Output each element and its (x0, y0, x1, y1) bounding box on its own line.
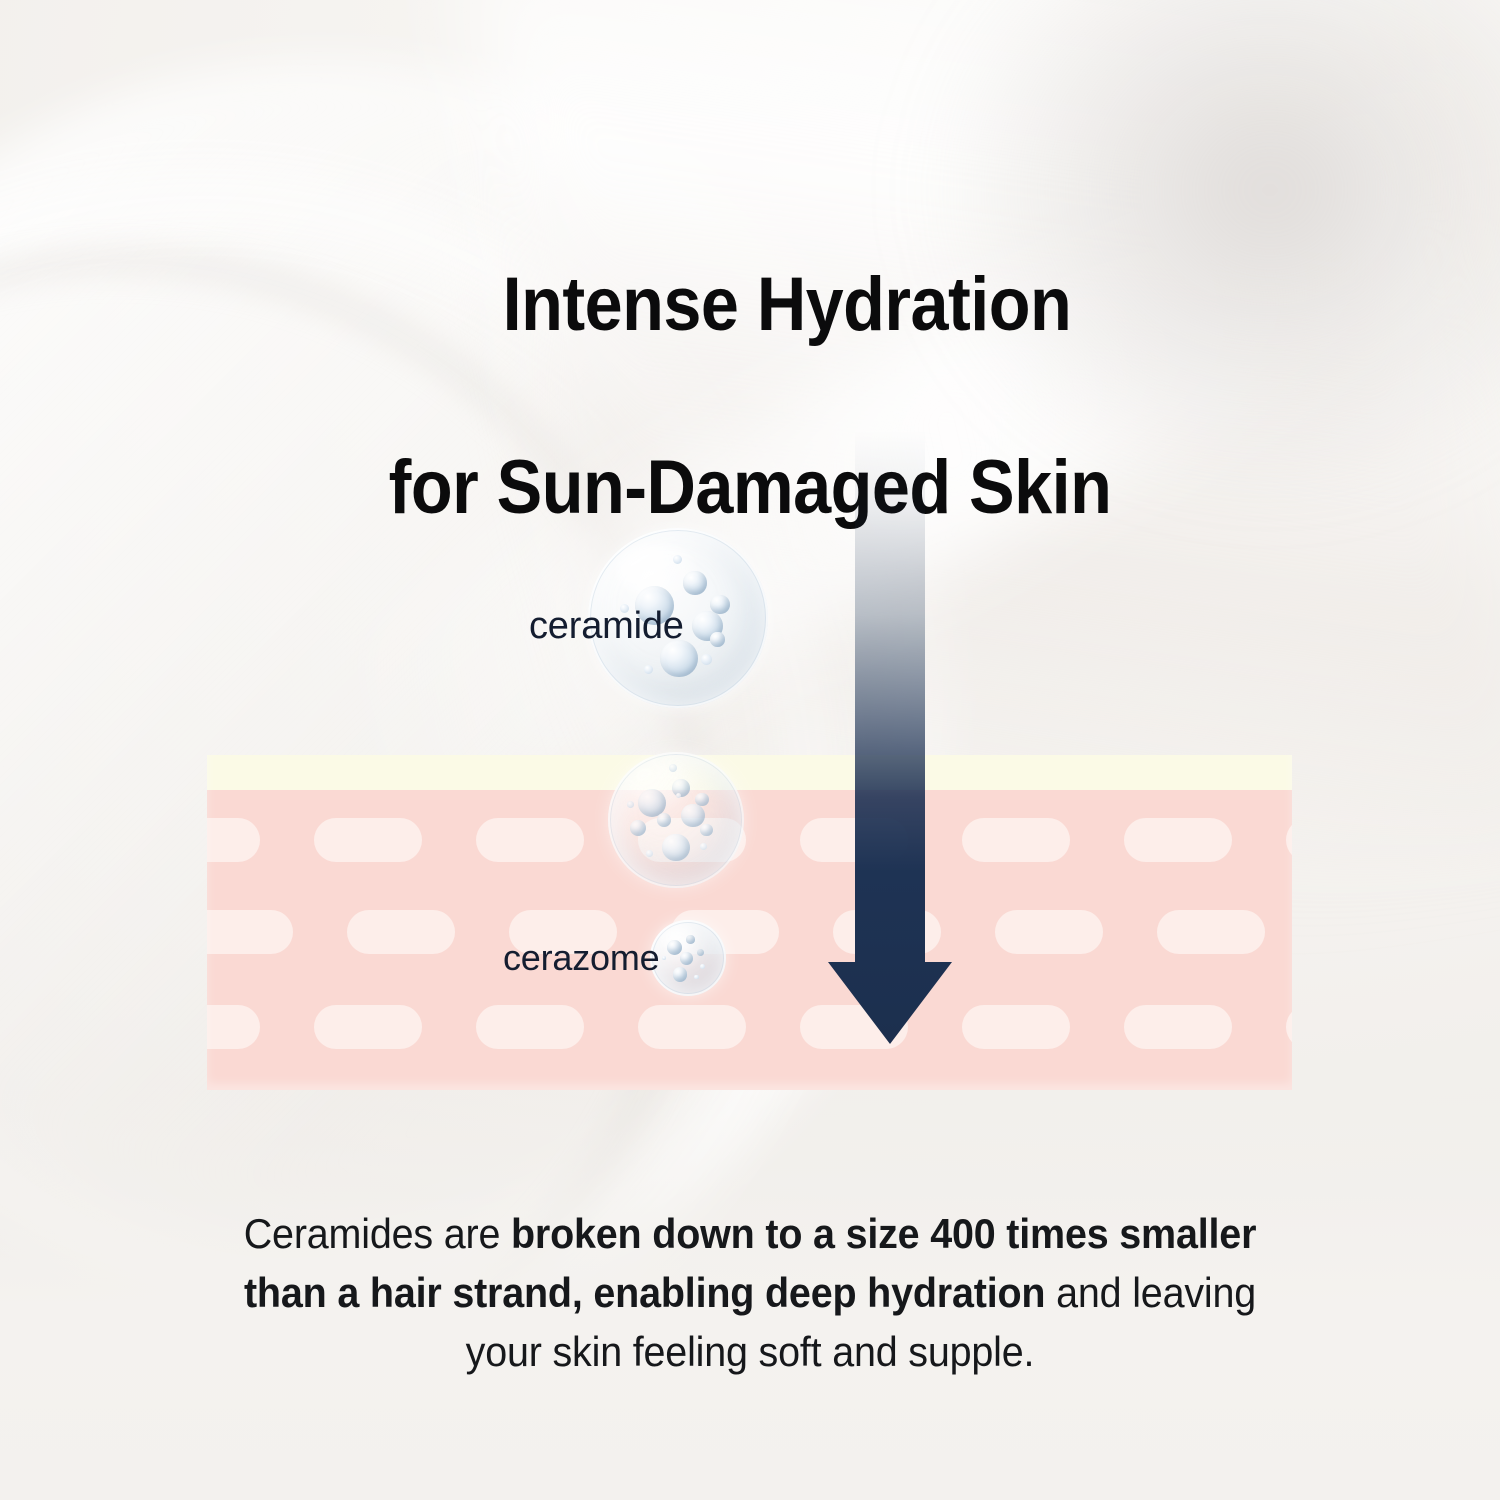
skin-cross-section-diagram (207, 755, 1292, 1090)
cerazome-molecule-bubble (650, 920, 726, 996)
inner-droplet (673, 967, 687, 981)
skin-cell (995, 910, 1103, 954)
skin-cell (207, 910, 293, 954)
skin-cell (1157, 910, 1265, 954)
ceramide-transition-bubble (608, 752, 744, 888)
skin-cell (638, 1005, 746, 1049)
skin-surface-layer (207, 755, 1292, 790)
inner-droplet (646, 850, 653, 857)
inner-droplet (681, 804, 704, 827)
skin-cell (1124, 1005, 1232, 1049)
skin-cell (962, 818, 1070, 862)
skin-cell (476, 1005, 584, 1049)
ceramide-label: ceramide (529, 605, 684, 648)
skin-cell (1286, 1005, 1292, 1049)
inner-droplet (700, 824, 712, 836)
skin-cell (962, 1005, 1070, 1049)
inner-droplet (701, 654, 712, 665)
skin-cell (476, 818, 584, 862)
inner-droplet (644, 665, 653, 674)
inner-droplet (667, 940, 682, 955)
skin-cell (314, 1005, 422, 1049)
skin-cell (207, 1005, 260, 1049)
skin-cell-row-3 (207, 1005, 1292, 1049)
inner-droplet (686, 935, 694, 943)
inner-droplet (694, 975, 699, 980)
title-line-2: for Sun-Damaged Skin (75, 442, 1425, 533)
skin-cell (1286, 818, 1292, 862)
inner-droplet (627, 801, 634, 808)
skin-cell (347, 910, 455, 954)
inner-droplet (710, 632, 724, 646)
caption-l2-regular: and leaving (1045, 1269, 1256, 1316)
inner-droplet (657, 813, 671, 827)
skin-cell-row-2 (207, 910, 1292, 954)
caption-line-3: your skin feeling soft and supple. (186, 1323, 1314, 1382)
downward-penetration-arrow (828, 430, 952, 1044)
caption-block: Ceramides are broken down to a size 400 … (186, 1205, 1314, 1381)
inner-droplet (697, 949, 704, 956)
skin-cell (314, 818, 422, 862)
caption-line-2: than a hair strand, enabling deep hydrat… (186, 1264, 1314, 1323)
skin-cell (1124, 818, 1232, 862)
infographic-canvas: Intense Hydration for Sun-Damaged Skin (0, 0, 1500, 1500)
caption-l1-bold: broken down to a size 400 times smaller (511, 1210, 1256, 1257)
title-line-1: Intense Hydration (503, 262, 1072, 347)
caption-line-1: Ceramides are broken down to a size 400 … (186, 1205, 1314, 1264)
cerazome-label: cerazome (503, 937, 659, 979)
caption-l1-regular: Ceramides are (244, 1210, 511, 1257)
skin-cell (207, 818, 260, 862)
caption-l2-bold: than a hair strand, enabling deep hydrat… (244, 1269, 1045, 1316)
inner-droplet (683, 571, 706, 594)
inner-droplet (673, 555, 682, 564)
skin-cell-row-1 (207, 818, 1292, 862)
inner-droplet (662, 834, 689, 861)
